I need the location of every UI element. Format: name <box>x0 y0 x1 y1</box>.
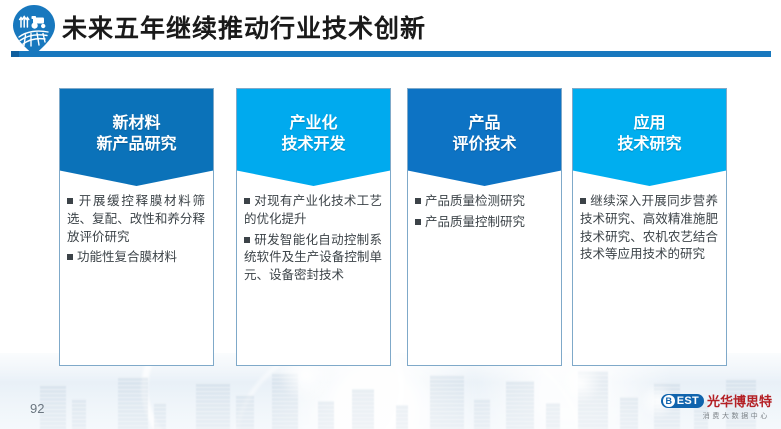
bullet-item: 产品质量控制研究 <box>415 213 553 231</box>
bullet-square-icon <box>415 198 421 204</box>
card-title-line1: 新材料 <box>96 112 176 133</box>
card-product-evaluation[interactable]: 产品 评价技术 产品质量检测研究 产品质量控制研究 <box>407 88 562 366</box>
bullet-text: 对现有产业化技术工艺的优化提升 <box>244 193 382 226</box>
card-title-line2: 技术开发 <box>281 133 345 154</box>
bullet-item: 功能性复合膜材料 <box>67 248 205 266</box>
brand-chinese-text: 光华博思特 <box>707 391 772 410</box>
bullet-item: 产品质量检测研究 <box>415 192 553 210</box>
bullet-item: 开展缓控释膜材料筛选、复配、改性和养分释放评价研究 <box>67 192 205 245</box>
card-new-materials[interactable]: 新材料 新产品研究 开展缓控释膜材料筛选、复配、改性和养分释放评价研究 功能性复… <box>59 88 214 366</box>
bullet-item: 对现有产业化技术工艺的优化提升 <box>244 192 382 228</box>
brand-subtitle: 消费大数据中心 <box>703 411 770 421</box>
title-divider <box>11 51 771 57</box>
bullet-item: 研发智能化自动控制系统软件及生产设备控制单元、设备密封技术 <box>244 231 382 284</box>
slide-canvas: 未来五年继续推动行业技术创新 新材料 新产品研究 开展缓控释膜材料筛选、复配、改… <box>0 0 781 429</box>
card-title: 应用 技术研究 <box>617 112 681 154</box>
brand-latin-text: EST <box>677 395 699 407</box>
brand-mark-icon: B <box>663 395 675 407</box>
bullet-item: 继续深入开展同步营养技术研究、高效精准施肥技术研究、农机农艺结合技术等应用技术的… <box>580 192 718 263</box>
page-title: 未来五年继续推动行业技术创新 <box>62 9 426 45</box>
slide-header: 未来五年继续推动行业技术创新 <box>0 0 781 58</box>
brand-logo: B EST 光华博思特 消费大数据中心 <box>661 391 772 421</box>
bullet-square-icon <box>244 237 250 243</box>
bullet-text: 产品质量检测研究 <box>425 193 525 208</box>
bullet-square-icon <box>67 254 73 260</box>
bullet-text: 研发智能化自动控制系统软件及生产设备控制单元、设备密封技术 <box>244 232 382 283</box>
card-title-line2: 新产品研究 <box>96 133 176 154</box>
card-body: 开展缓控释膜材料筛选、复配、改性和养分释放评价研究 功能性复合膜材料 <box>59 192 214 269</box>
bullet-square-icon <box>244 198 250 204</box>
bullet-square-icon <box>580 198 586 204</box>
bullet-text: 功能性复合膜材料 <box>77 249 177 264</box>
card-header: 新材料 新产品研究 <box>59 88 214 186</box>
card-header: 产品 评价技术 <box>407 88 562 186</box>
bullet-square-icon <box>415 219 421 225</box>
page-number: 92 <box>30 401 44 416</box>
card-title-line2: 评价技术 <box>452 133 516 154</box>
card-body: 产品质量检测研究 产品质量控制研究 <box>407 192 562 234</box>
bullet-text: 继续深入开展同步营养技术研究、高效精准施肥技术研究、农机农艺结合技术等应用技术的… <box>580 193 718 261</box>
card-header: 产业化 技术开发 <box>236 88 391 186</box>
card-title: 产业化 技术开发 <box>281 112 345 154</box>
card-title-line2: 技术研究 <box>617 133 681 154</box>
card-body: 继续深入开展同步营养技术研究、高效精准施肥技术研究、农机农艺结合技术等应用技术的… <box>572 192 727 266</box>
card-title: 新材料 新产品研究 <box>96 112 176 154</box>
card-title-line1: 产品 <box>452 112 516 133</box>
bullet-text: 产品质量控制研究 <box>425 214 525 229</box>
brand-logo-main: B EST 光华博思特 <box>661 391 772 410</box>
bullet-text: 开展缓控释膜材料筛选、复配、改性和养分释放评价研究 <box>67 193 205 244</box>
card-title-line1: 产业化 <box>281 112 345 133</box>
brand-badge: B EST <box>661 394 704 408</box>
card-industrialization[interactable]: 产业化 技术开发 对现有产业化技术工艺的优化提升 研发智能化自动控制系统软件及生… <box>236 88 391 366</box>
card-title: 产品 评价技术 <box>452 112 516 154</box>
title-divider-cap <box>11 51 19 57</box>
card-body: 对现有产业化技术工艺的优化提升 研发智能化自动控制系统软件及生产设备控制单元、设… <box>236 192 391 287</box>
card-row: 新材料 新产品研究 开展缓控释膜材料筛选、复配、改性和养分释放评价研究 功能性复… <box>0 88 781 370</box>
card-title-line1: 应用 <box>617 112 681 133</box>
card-header: 应用 技术研究 <box>572 88 727 186</box>
card-applied-technology[interactable]: 应用 技术研究 继续深入开展同步营养技术研究、高效精准施肥技术研究、农机农艺结合… <box>572 88 727 366</box>
bullet-square-icon <box>67 198 73 204</box>
agriculture-pin-icon <box>11 4 57 56</box>
